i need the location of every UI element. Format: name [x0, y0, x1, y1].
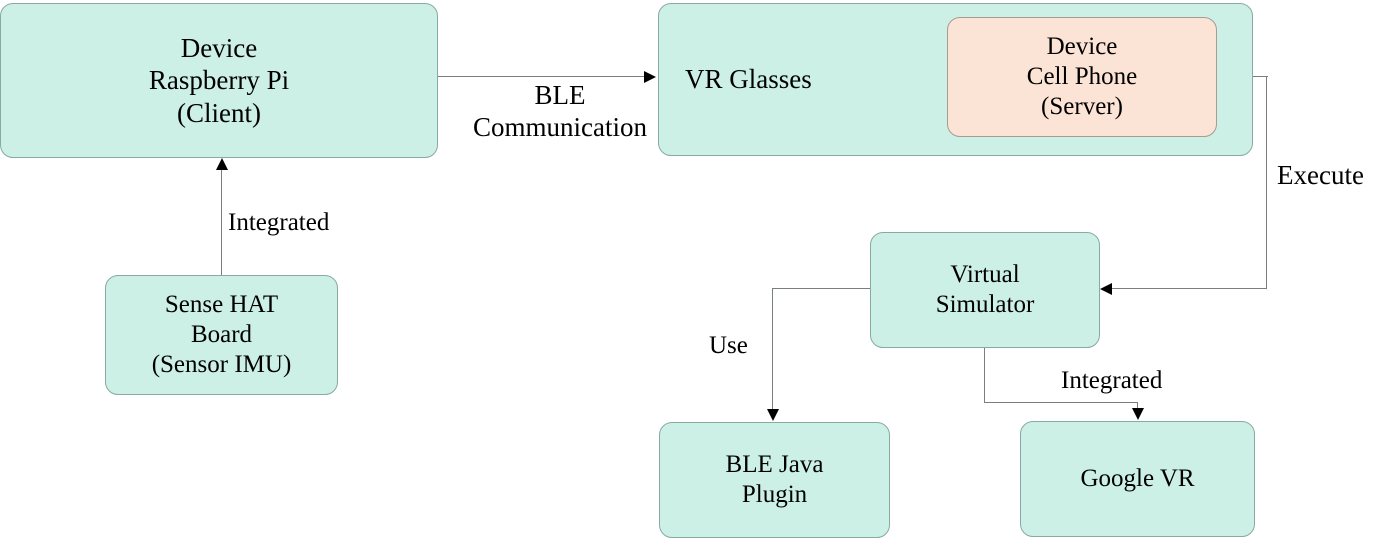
- node-cell-phone[interactable]: Device Cell Phone (Server): [947, 17, 1217, 137]
- edge-use-segment-vertical: [772, 288, 773, 410]
- node-raspberry-pi[interactable]: Device Raspberry Pi (Client): [0, 3, 438, 158]
- node-cell-phone-label: Device Cell Phone (Server): [948, 32, 1216, 122]
- diagram-canvas: BLE Communication Integrated Execute Use…: [0, 0, 1382, 541]
- node-ble-java-plugin[interactable]: BLE Java Plugin: [659, 422, 890, 538]
- edge-execute-segment-bottom: [1112, 288, 1267, 289]
- node-sense-hat-board-label: Sense HAT Board (Sensor IMU): [106, 290, 337, 380]
- edge-label-use: Use: [709, 331, 748, 361]
- node-google-vr-label: Google VR: [1021, 464, 1254, 494]
- node-google-vr[interactable]: Google VR: [1020, 421, 1255, 537]
- edge-ble-communication-line: [438, 76, 646, 77]
- edge-integrated-google-vr-arrowhead: [1132, 408, 1144, 420]
- edge-label-ble-communication: BLE Communication: [455, 80, 665, 144]
- node-virtual-simulator[interactable]: Virtual Simulator: [870, 232, 1100, 348]
- edge-label-integrated-sense-hat: Integrated: [228, 208, 329, 238]
- edge-execute-arrowhead: [1100, 283, 1112, 295]
- edge-label-integrated-google-vr: Integrated: [1061, 366, 1162, 396]
- edge-label-execute: Execute: [1277, 160, 1364, 192]
- node-sense-hat-board[interactable]: Sense HAT Board (Sensor IMU): [105, 275, 338, 395]
- edge-use-arrowhead: [767, 409, 779, 421]
- node-raspberry-pi-label: Device Raspberry Pi (Client): [1, 32, 437, 129]
- node-virtual-simulator-label: Virtual Simulator: [871, 260, 1099, 320]
- edge-integrated-sense-hat-line: [221, 170, 222, 276]
- node-ble-java-plugin-label: BLE Java Plugin: [660, 450, 889, 510]
- node-vr-glasses-label: VR Glasses: [685, 63, 812, 95]
- edge-integrated-google-vr-segment-horizontal: [984, 402, 1138, 403]
- edge-execute-segment-vertical: [1266, 76, 1267, 289]
- edge-integrated-sense-hat-arrowhead: [216, 158, 228, 170]
- edge-integrated-google-vr-segment-vertical-1: [984, 348, 985, 403]
- edge-use-segment-horizontal: [773, 288, 871, 289]
